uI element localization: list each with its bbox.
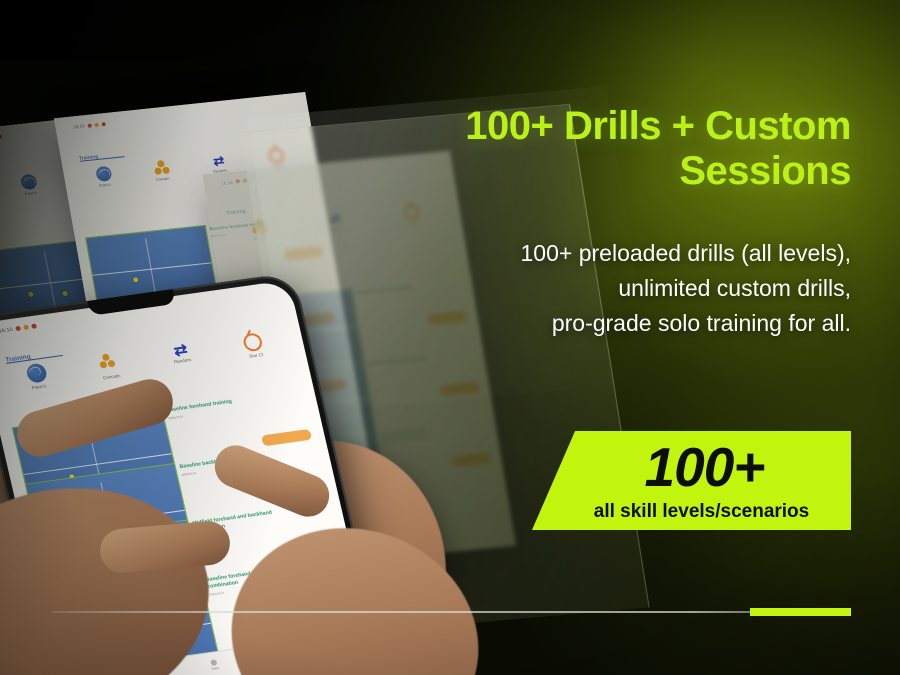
headline-line-2: Sessions	[381, 149, 851, 194]
footer-accent-bar	[750, 608, 851, 616]
badge-subtitle: all skill levels/scenarios	[594, 502, 809, 521]
body-line-3: pro-grade solo training for all.	[381, 306, 851, 341]
body-line-1: 100+ preloaded drills (all levels),	[381, 236, 851, 271]
headline-line-1: 100+ Drills + Custom	[381, 104, 851, 149]
description-text: 100+ preloaded drills (all levels), unli…	[381, 236, 851, 341]
body-line-2: unlimited custom drills,	[381, 271, 851, 306]
stat-badge: 100+ all skill levels/scenarios	[532, 431, 851, 530]
promo-banner: 16:15 Training Point tr. Concate.	[0, 0, 900, 675]
page-title: 100+ Drills + Custom Sessions	[381, 104, 851, 194]
badge-number: 100+	[645, 440, 765, 495]
footer-divider	[52, 611, 751, 613]
